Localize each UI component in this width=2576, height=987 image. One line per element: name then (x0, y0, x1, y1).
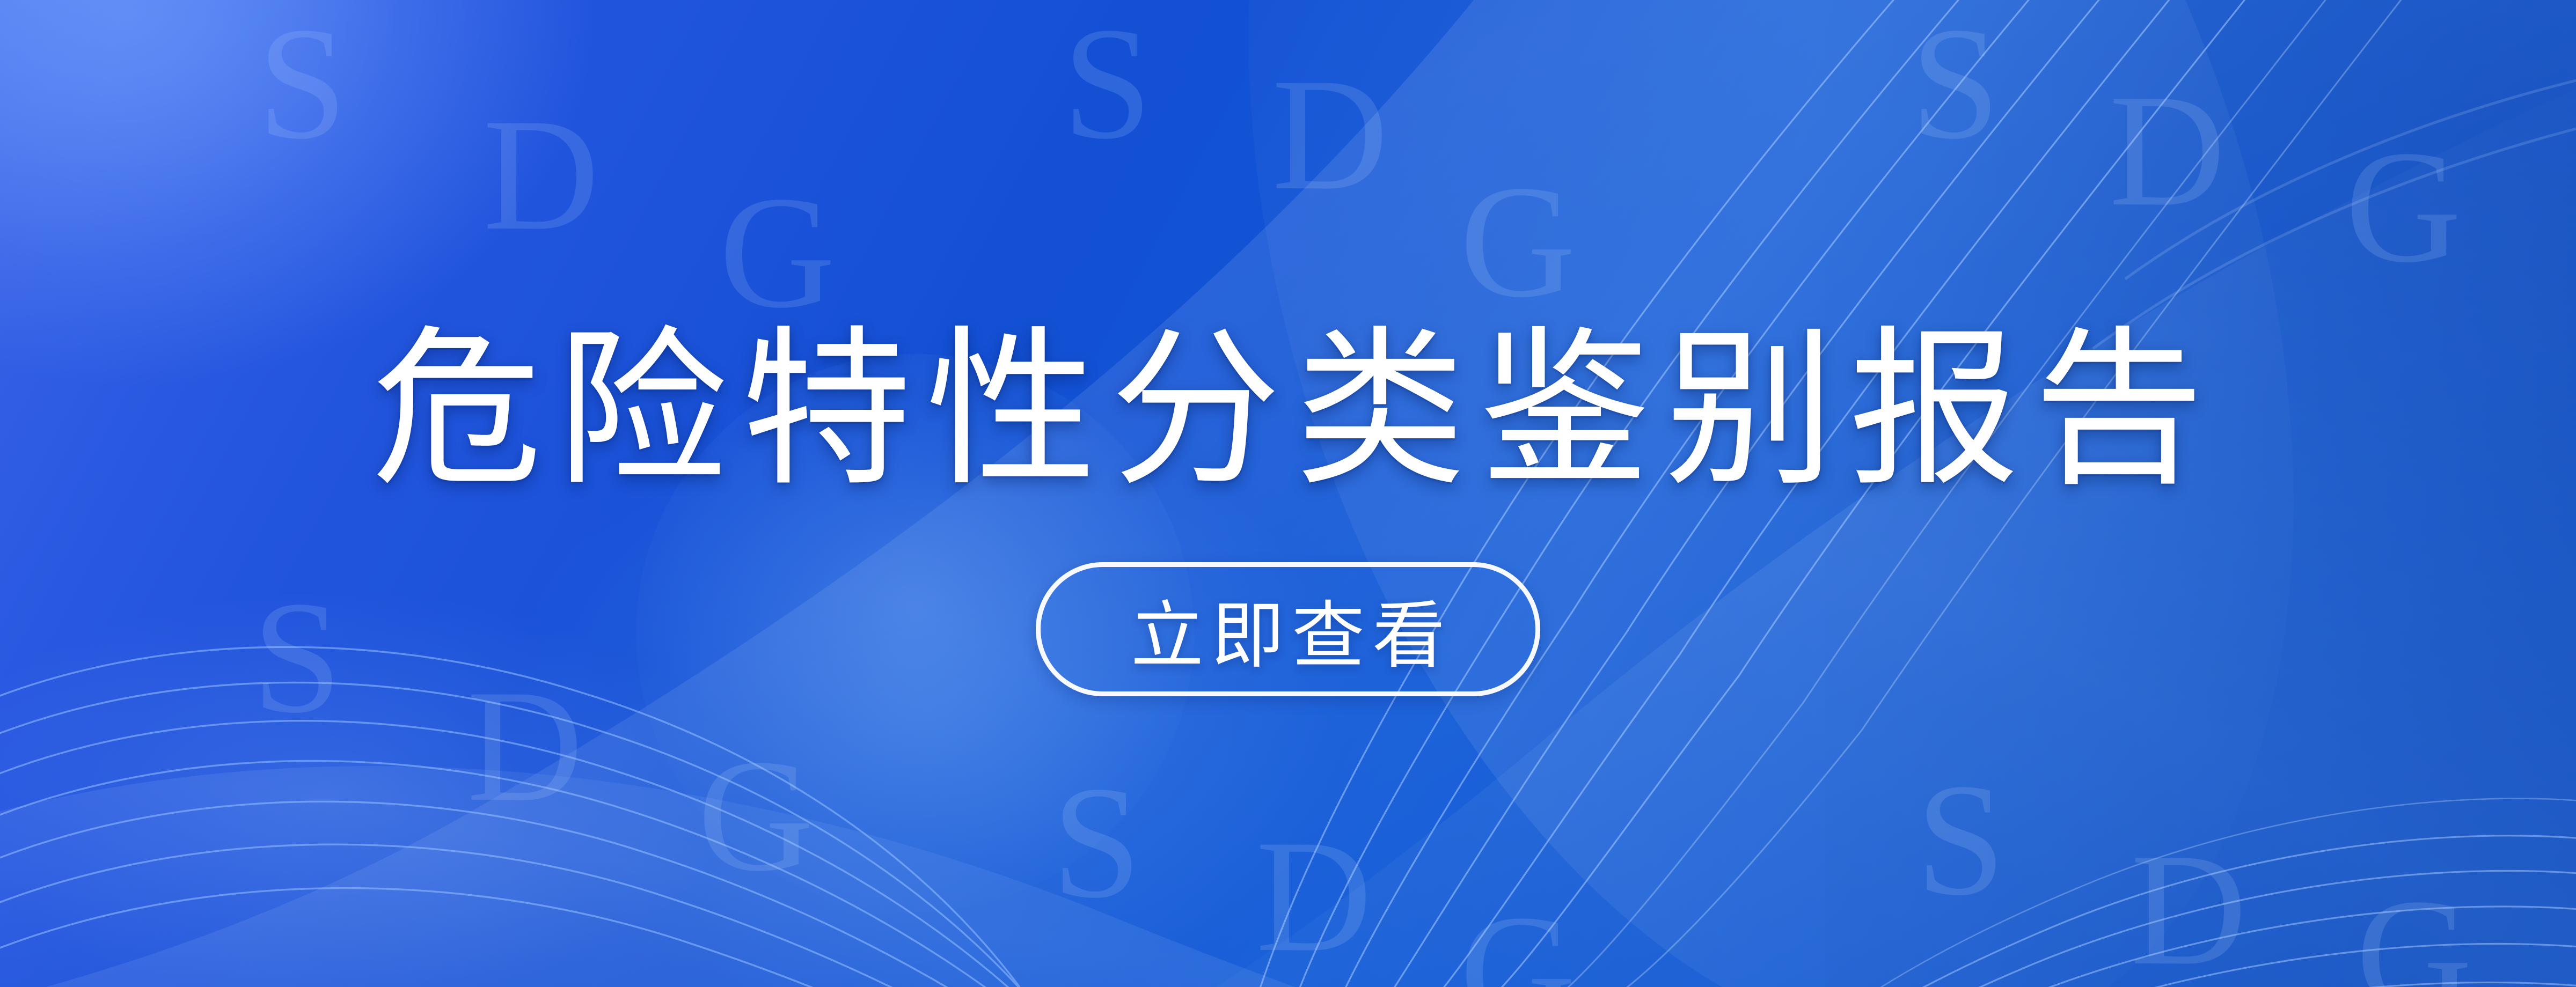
view-now-button[interactable]: 立即查看 (1036, 562, 1540, 696)
page-title: 危险特性分类鉴别报告 (358, 271, 2218, 518)
promo-banner: SDGSDGSDGSDGSDGSDG 危险特性分类鉴别报告 立即查看 (0, 0, 2576, 987)
cta-container: 立即查看 (0, 562, 2576, 696)
banner-content: 危险特性分类鉴别报告 立即查看 (0, 0, 2576, 987)
view-now-button-label: 立即查看 (1123, 577, 1453, 682)
